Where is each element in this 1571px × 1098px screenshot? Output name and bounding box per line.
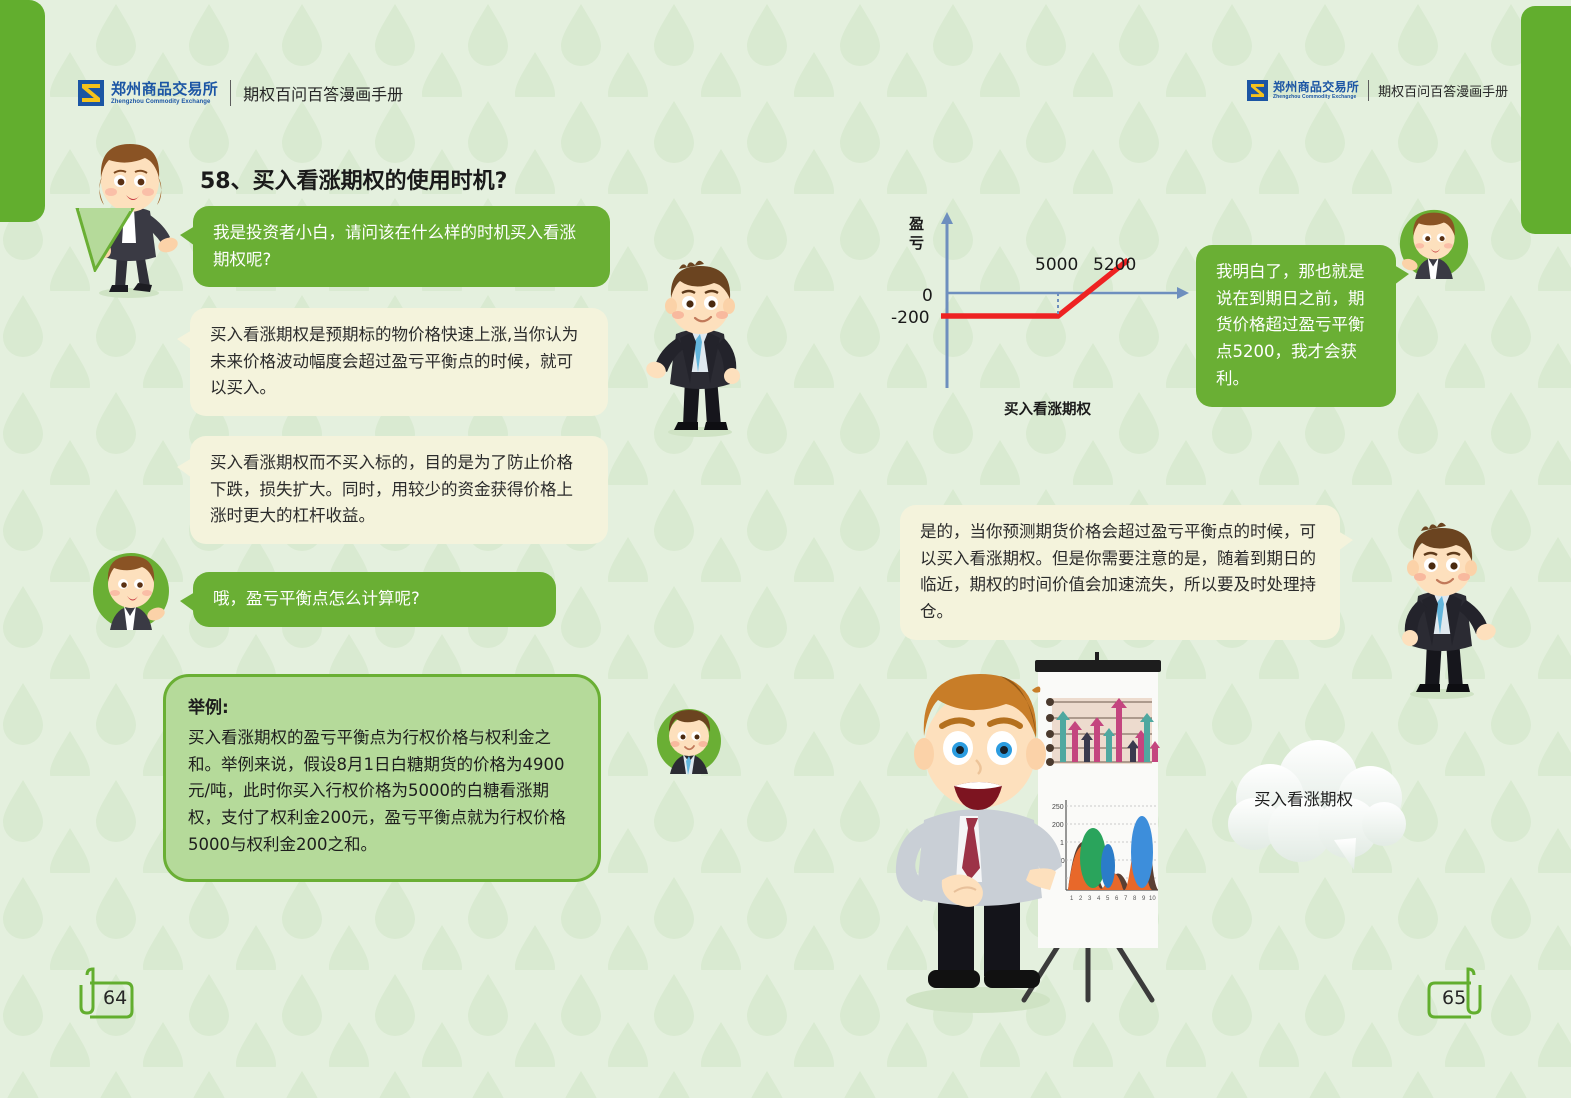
svg-text:-200: -200	[891, 308, 930, 328]
speech-bubble-reply-2: 是的，当你预测期货价格会超过盈亏平衡点的时候，可以买入看涨期权。但是你需要注意的…	[900, 505, 1340, 640]
svg-text:5200: 5200	[1093, 255, 1136, 275]
page-number-left: 64	[73, 967, 139, 1028]
left-edge-tab	[0, 0, 45, 222]
header-left: 郑州商品交易所 Zhengzhou Commodity Exchange 期权百…	[78, 80, 403, 106]
payoff-diagram-caption: 买入看涨期权	[1004, 398, 1091, 419]
handbook-title: 期权百问百答漫画手册	[243, 81, 403, 105]
svg-text:250: 250	[1052, 804, 1064, 811]
page-title: 58、买入看涨期权的使用时机?	[200, 163, 507, 195]
svg-text:10: 10	[1149, 896, 1156, 902]
right-edge-tab	[1521, 6, 1571, 234]
example-text: 买入看涨期权的盈亏平衡点为行权价格与权利金之和。举例来说，假设8月1日白糖期货的…	[188, 725, 576, 859]
example-label: 举例:	[188, 695, 576, 723]
man-character-icon	[1382, 520, 1502, 700]
bubble-text: 是的，当你预测期货价格会超过盈亏平衡点的时候，可以买入看涨期权。但是你需要注意的…	[900, 505, 1340, 640]
logo-english-name: Zhengzhou Commodity Exchange	[111, 99, 218, 105]
header-right: 郑州商品交易所 Zhengzhou Commodity Exchange 期权百…	[1247, 80, 1508, 101]
svg-text:1: 1	[1060, 840, 1064, 847]
page-number-value: 65	[1442, 987, 1466, 1009]
thought-cloud-text: 买入看涨期权	[1254, 786, 1353, 810]
svg-text:亏: 亏	[909, 234, 924, 252]
svg-text:5000: 5000	[1035, 255, 1078, 275]
zce-logo-icon	[1247, 80, 1268, 101]
speech-bubble-question-1: 我是投资者小白，请问该在什么样的时机买入看涨期权呢?	[193, 206, 610, 287]
payoff-diagram: 盈 亏 0 -200 5000 5200	[885, 208, 1195, 408]
header-divider	[1368, 80, 1369, 101]
zce-logo-icon	[78, 80, 104, 106]
bubble-text: 买入看涨期权是预期标的物价格快速上涨,当你认为未来价格波动幅度会超过盈亏平衡点的…	[190, 308, 608, 416]
logo-text: 郑州商品交易所 Zhengzhou Commodity Exchange	[1273, 81, 1359, 100]
bubble-text: 我是投资者小白，请问该在什么样的时机买入看涨期权呢?	[193, 206, 610, 287]
bubble-text: 我明白了，那也就是说在到期日之前，期货价格超过盈亏平衡点5200，我才会获利。	[1196, 245, 1396, 407]
page-number-right: 65	[1422, 967, 1488, 1028]
handbook-title: 期权百问百答漫画手册	[1378, 81, 1508, 100]
svg-text:200: 200	[1052, 822, 1064, 829]
bubble-text: 买入看涨期权而不买入标的，目的是为了防止价格下跌，损失扩大。同时，用较少的资金获…	[190, 436, 608, 544]
svg-text:0: 0	[922, 286, 933, 306]
bubble-text: 哦，盈亏平衡点怎么计算呢?	[193, 572, 556, 627]
bubble-tail	[1338, 531, 1353, 551]
speech-bubble-question-2: 哦，盈亏平衡点怎么计算呢?	[193, 572, 556, 627]
svg-text:盈: 盈	[908, 215, 924, 233]
page-spread: 郑州商品交易所 Zhengzhou Commodity Exchange 期权百…	[0, 0, 1571, 1098]
page-number-value: 64	[103, 987, 127, 1009]
presenter-with-flipchart-icon: 250 200 1 10 123 456 789 10	[880, 640, 1200, 1020]
bubble-tail	[180, 592, 195, 612]
logo-text: 郑州商品交易所 Zhengzhou Commodity Exchange	[111, 82, 218, 105]
woman-avatar-icon	[82, 542, 180, 640]
speech-bubble-answer-1: 买入看涨期权是预期标的物价格快速上涨,当你认为未来价格波动幅度会超过盈亏平衡点的…	[190, 308, 608, 416]
speech-bubble-reply-1: 我明白了，那也就是说在到期日之前，期货价格超过盈亏平衡点5200，我才会获利。	[1196, 245, 1396, 407]
bubble-tail	[180, 226, 195, 246]
header-divider	[230, 80, 231, 106]
bubble-tail	[177, 330, 192, 350]
man-character-icon	[640, 258, 760, 438]
bubble-tail	[177, 458, 192, 478]
man-avatar-icon	[648, 700, 730, 782]
bubble-tail	[1394, 265, 1409, 285]
speech-bubble-answer-2: 买入看涨期权而不买入标的，目的是为了防止价格下跌，损失扩大。同时，用较少的资金获…	[190, 436, 608, 544]
logo-english-name: Zhengzhou Commodity Exchange	[1273, 95, 1359, 100]
example-callout-tail	[75, 208, 155, 272]
logo-chinese-name: 郑州商品交易所	[111, 82, 218, 97]
logo-chinese-name: 郑州商品交易所	[1273, 81, 1359, 93]
example-callout: 举例: 买入看涨期权的盈亏平衡点为行权价格与权利金之和。举例来说，假设8月1日白…	[163, 674, 601, 882]
